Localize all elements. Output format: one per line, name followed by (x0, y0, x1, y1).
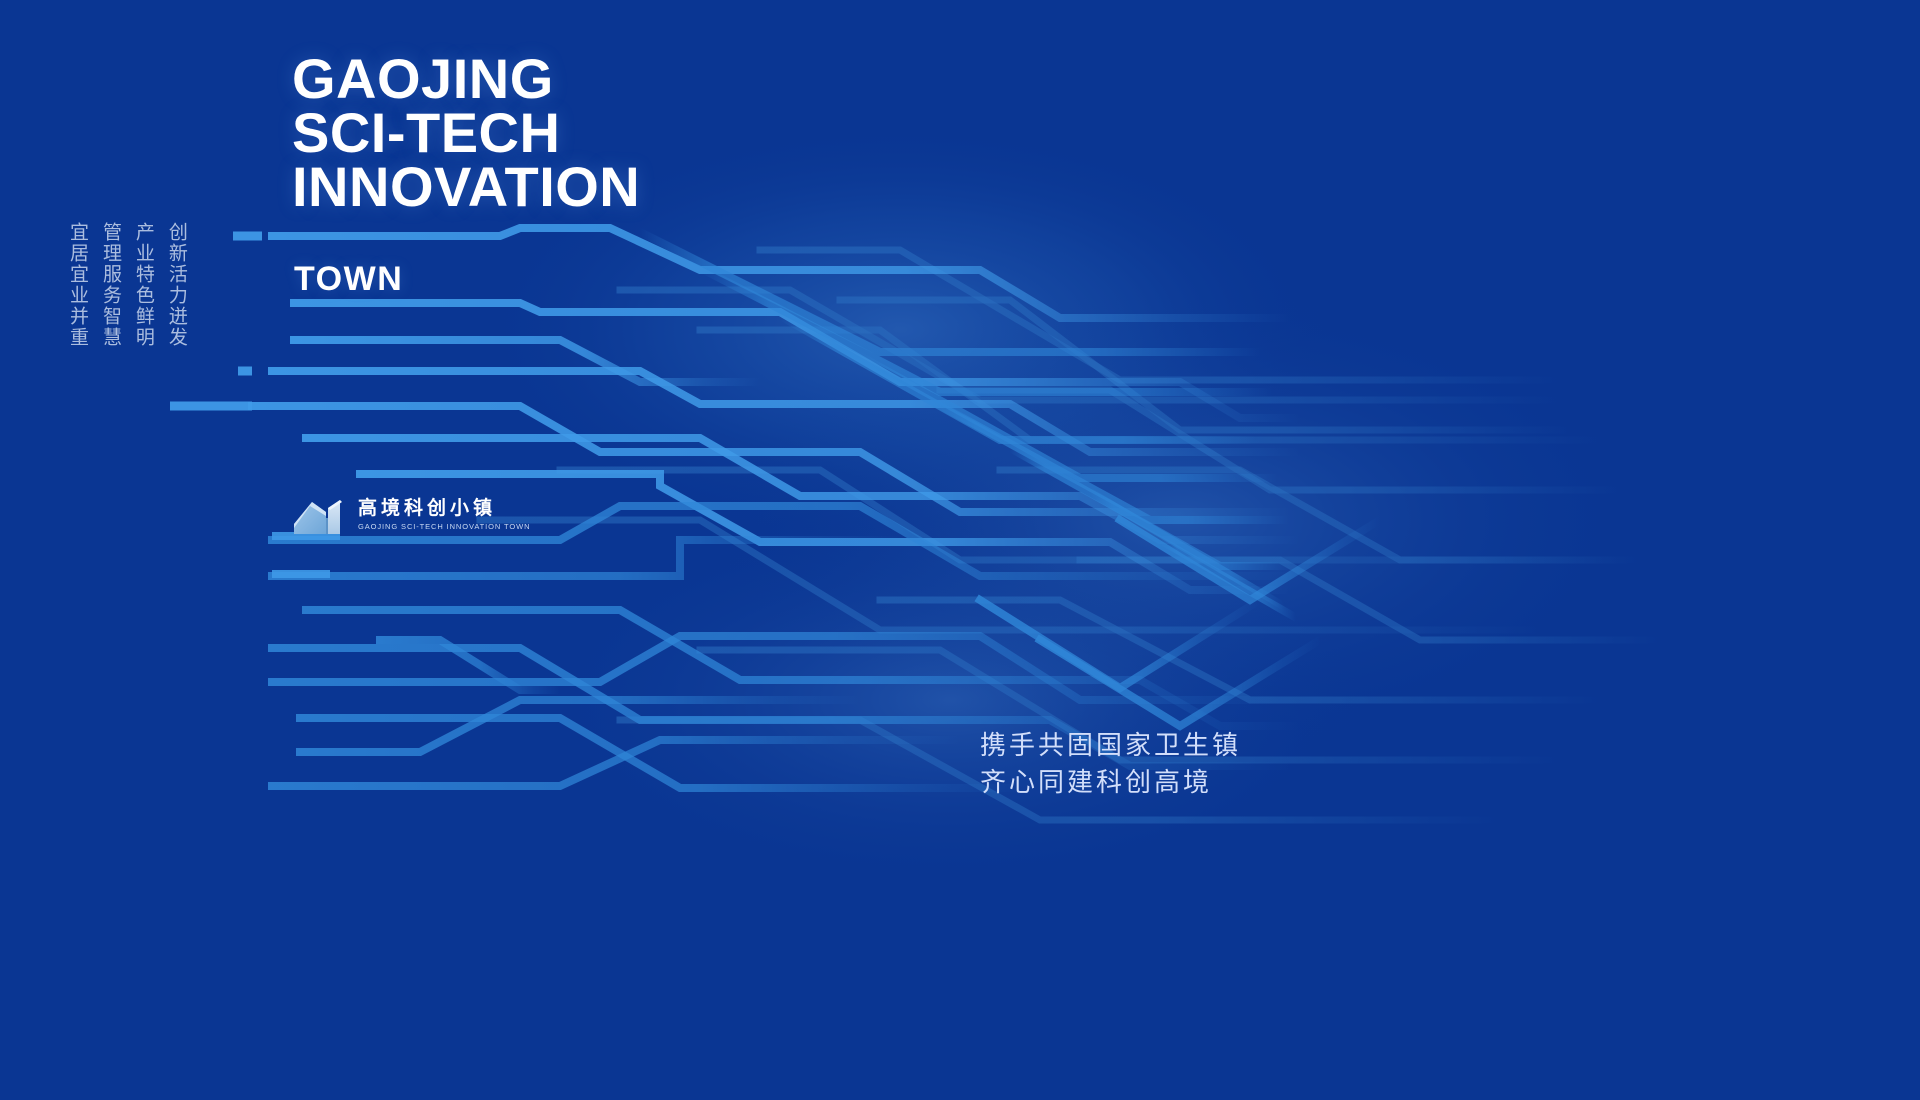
headline-line-innovation: INNOVATION (292, 160, 640, 214)
logo-chinese-name: 高境科创小镇 (358, 499, 530, 519)
glow-bloom-lower (530, 510, 1370, 890)
circuit-diagonal-rays (640, 232, 1300, 620)
vertical-tagline-group: 创新活力迸发 产业特色鲜明 管理服务智慧 宜居宜业并重 (64, 222, 190, 348)
glow-bloom-mid (710, 290, 1650, 750)
logo-text-group: 高境科创小镇 GAOJING SCI-TECH INNOVATION TOWN (358, 499, 530, 531)
circuit-chevron-motifs (980, 520, 1380, 726)
vertical-tagline-column-1: 创新活力迸发 (163, 222, 190, 348)
slogan-block: 携手共固国家卫生镇 齐心同建科创高境 (980, 728, 1241, 802)
circuit-traces-lower (272, 640, 960, 786)
logo-english-name: GAOJING SCI-TECH INNOVATION TOWN (358, 522, 530, 531)
headline-line-gaojing: GAOJING (292, 52, 640, 106)
house-building-logo-icon (292, 494, 348, 536)
headline-line-town: TOWN (294, 260, 403, 299)
vertical-tagline-column-2: 产业特色鲜明 (130, 222, 157, 348)
circuit-background-artwork (0, 0, 1920, 1100)
poster-canvas: 创新活力迸发 产业特色鲜明 管理服务智慧 宜居宜业并重 GAOJING SCI-… (0, 0, 1920, 1100)
brand-logo-lockup: 高境科创小镇 GAOJING SCI-TECH INNOVATION TOWN (292, 494, 530, 536)
vertical-tagline-column-4: 宜居宜业并重 (64, 222, 91, 348)
headline-block: GAOJING SCI-TECH INNOVATION (292, 52, 640, 214)
headline-line-scitech: SCI-TECH (292, 106, 640, 160)
vertical-tagline-column-3: 管理服务智慧 (97, 222, 124, 348)
circuit-accent-stubs (272, 536, 340, 574)
slogan-line-2: 齐心同建科创高境 (980, 765, 1241, 802)
slogan-line-1: 携手共固国家卫生镇 (980, 728, 1241, 765)
